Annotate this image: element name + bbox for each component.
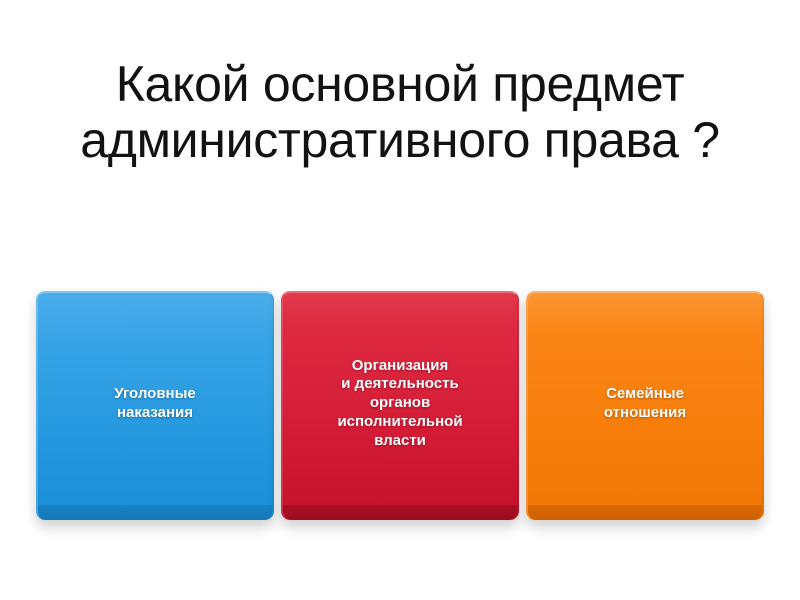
answer-option-2-bevel — [283, 505, 517, 520]
answer-option-2-label: Организация и деятельность органов испол… — [288, 357, 512, 451]
question-text: Какой основной предмет административного… — [0, 56, 800, 168]
answer-option-2[interactable]: Организация и деятельность органов испол… — [281, 291, 519, 520]
answer-option-1-label: Уголовные наказания — [43, 385, 267, 423]
answer-option-3-label: Семейные отношения — [533, 385, 757, 423]
question-area: Какой основной предмет административного… — [0, 56, 800, 168]
answer-option-1[interactable]: Уголовные наказания — [36, 291, 274, 520]
answer-option-1-bevel — [38, 505, 272, 520]
answer-option-3[interactable]: Семейные отношения — [526, 291, 764, 520]
quiz-question-screen: Какой основной предмет административного… — [0, 0, 800, 600]
answer-options-row: Уголовные наказания Организация и деятел… — [36, 291, 764, 523]
answer-option-3-bevel — [528, 505, 762, 520]
